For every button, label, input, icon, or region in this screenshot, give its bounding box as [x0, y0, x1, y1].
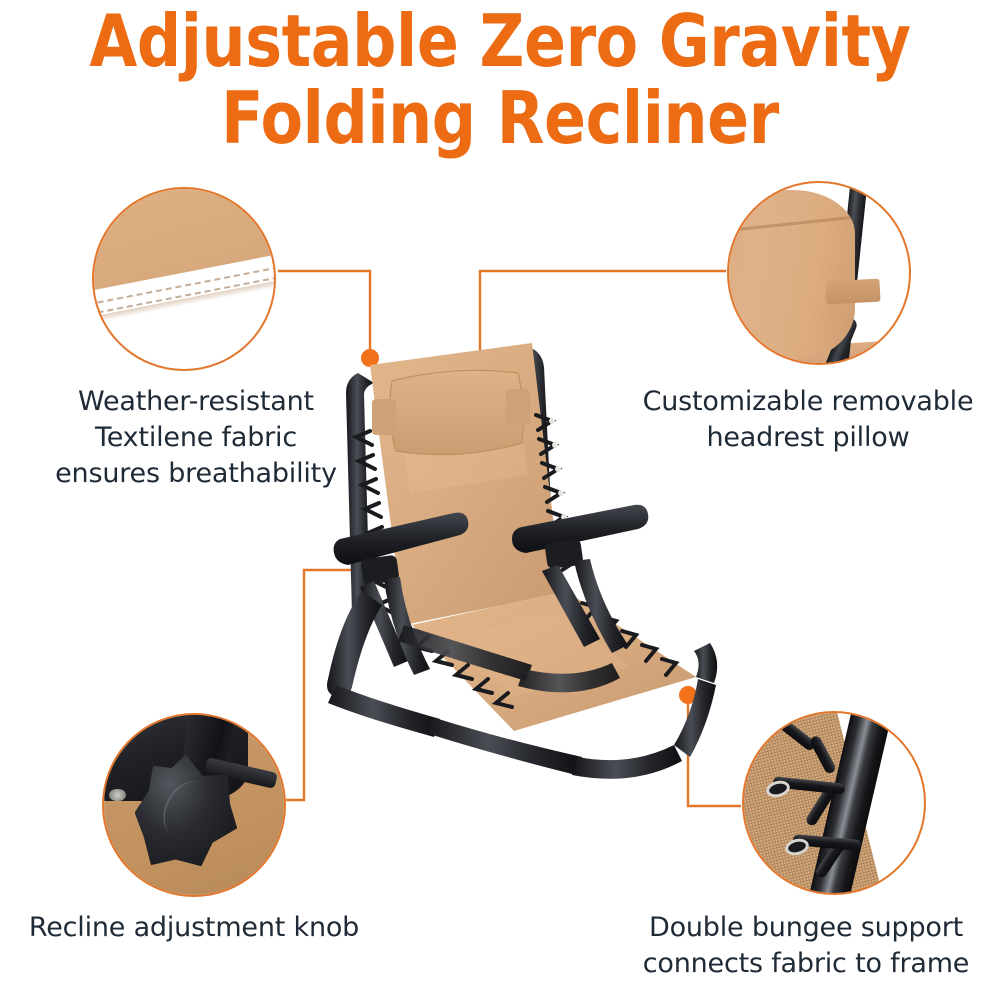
knob-screw-head [109, 789, 125, 802]
caption-knob: Recline adjustment knob [0, 910, 394, 946]
title-line-2: Folding Recliner [70, 83, 930, 154]
headrest-pillow-body [727, 190, 855, 359]
callout-circle-pillow [727, 181, 911, 365]
pillow-strap-detail [729, 183, 909, 363]
infographic-page: Adjustable Zero Gravity Folding Recliner [0, 0, 1000, 997]
caption-pillow: Customizable removable headrest pillow [608, 384, 1000, 456]
callout-circle-fabric [92, 187, 276, 371]
callout-circle-knob [102, 713, 286, 897]
pillow-attachment-strap [826, 279, 881, 305]
page-title: Adjustable Zero Gravity Folding Recliner [0, 6, 1000, 153]
star-knob-detail [104, 715, 284, 895]
caption-fabric: Weather-resistant Textilene fabric ensur… [0, 384, 396, 492]
bungee-grommet-detail [744, 713, 924, 893]
caption-bungee: Double bungee support connects fabric to… [604, 910, 1000, 982]
fabric-stitch-detail [94, 189, 274, 369]
fabric-surface [92, 187, 276, 297]
title-line-1: Adjustable Zero Gravity [70, 6, 930, 77]
callout-circle-bungee [742, 711, 926, 895]
